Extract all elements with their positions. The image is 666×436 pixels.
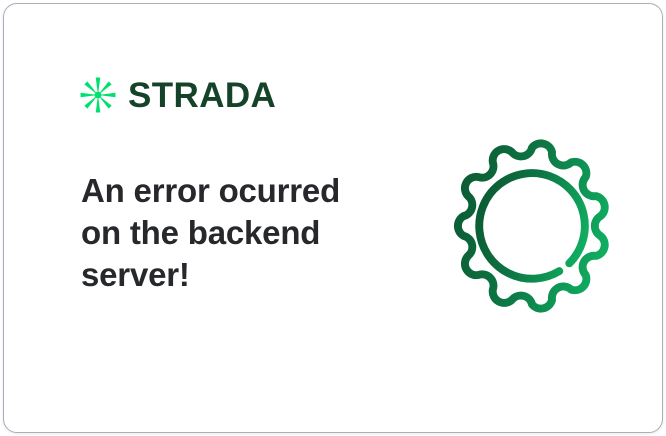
gear-icon [444,138,620,314]
error-message-line-3: server! [81,254,381,296]
error-message: An error ocurred on the backend server! [81,170,381,296]
strada-asterisk-icon [79,76,117,114]
gear-illustration [444,138,620,314]
brand-lockup: STRADA [79,73,276,117]
brand-name: STRADA [128,78,276,113]
error-message-line-2: on the backend [81,212,381,254]
error-card: STRADA An error ocurred on the backend s… [3,3,663,433]
error-screen: STRADA An error ocurred on the backend s… [0,0,666,436]
error-message-line-1: An error ocurred [81,170,381,212]
